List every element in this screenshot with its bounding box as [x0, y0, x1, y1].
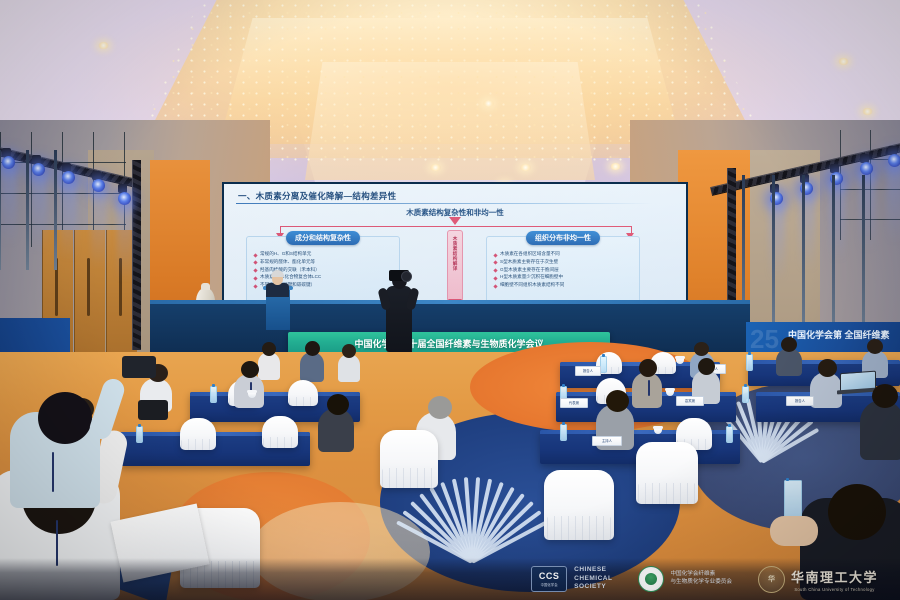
scut-seal-char: 华: [768, 574, 775, 584]
bullet-list-right: 木质素在各组织区域含量不同 S型木质素主要存在于次生壁 G型木质素主要存在于胞间…: [494, 251, 635, 290]
list-item: S型木质素主要存在于次生壁: [494, 259, 635, 265]
attendee-head-m4: [698, 358, 715, 375]
chair-f1: [180, 418, 216, 450]
drape-cable-right-1: [772, 175, 775, 340]
bullet-dot-icon: [493, 284, 497, 288]
attendee-head-m5: [818, 359, 837, 377]
attendee-head-fg3: [828, 484, 886, 540]
attendee-body-s3: [338, 354, 360, 382]
attendee-head-fg2: [38, 392, 92, 444]
ccs-name-text: CHINESE CHEMICAL SOCIETY: [574, 566, 612, 592]
downlight-10: [838, 58, 849, 65]
bullet-text: 木质素-碳水化合物复合体LCC: [260, 274, 321, 280]
attendee-head-b1: [694, 342, 709, 356]
lanyard-fg2: [52, 452, 54, 492]
scut-name-block: 华南理工大学 South China University of Technol…: [791, 567, 878, 592]
drape-cable-right-4: [862, 175, 865, 340]
attendee-head-fg4: [872, 384, 898, 408]
downlight-6: [483, 100, 494, 107]
chair-f2: [262, 416, 298, 448]
water-bottle-f1: [136, 426, 143, 443]
footer-logo-bar: CCS 中国化学会 CHINESE CHEMICAL SOCIETY 中国化学会…: [0, 558, 900, 600]
laptop: [840, 371, 874, 395]
truss-vertical-left: [132, 160, 141, 350]
headline-arrow-icon: [449, 217, 461, 225]
attendee-body-s2: [300, 352, 324, 382]
attendee-head-s1: [262, 342, 276, 356]
ccs-abbr-sub: 中国化学会: [541, 582, 558, 587]
water-bottle-m3: [742, 386, 749, 403]
water-bottle-f3: [726, 426, 733, 443]
chair-fg1: [380, 430, 438, 488]
bullet-text: 常规的H、G和S结构单元: [260, 251, 311, 257]
drape-cable-right-3: [832, 175, 835, 340]
name-card-m3: 报告人: [786, 396, 814, 406]
list-item: 细胞壁不同组织木质素结构不同: [494, 282, 635, 288]
scut-name-en: South China University of Technology: [794, 587, 874, 592]
scut-name-cn: 华南理工大学: [791, 567, 878, 586]
attendee-head-f3: [428, 396, 452, 419]
bullet-dot-icon: [493, 276, 497, 280]
camera-icon: [389, 270, 409, 281]
conference-hall-photo: 一、木质素分离及催化降解—结构差异性 木质素结构复杂性和非均一性 成分和结构复杂…: [0, 0, 900, 600]
bullet-dot-icon: [493, 253, 497, 257]
attendee-head-b2: [781, 337, 797, 352]
light-beam-left-2: [61, 181, 77, 261]
committee-line1: 中国化学会纤维素: [670, 571, 732, 579]
column-heading-right: 组织分布非均一性: [526, 231, 600, 245]
downlight-16: [430, 164, 441, 171]
bullet-text: 羟基肉桂酸的交联（禾本科）: [260, 267, 320, 273]
slide-title: 一、木质素分离及催化降解—结构差异性: [238, 190, 396, 202]
slide-title-underline: [236, 203, 652, 204]
fg-phone-left: [138, 400, 168, 420]
attendee-head-f2: [327, 394, 349, 415]
name-card-m2: 嘉宾席: [676, 396, 704, 406]
bullet-dot-icon: [253, 276, 257, 280]
attendee-head-b3: [867, 339, 883, 354]
chair-m2: [288, 380, 318, 406]
bullet-text: S型木质素主要存在于次生壁: [500, 259, 558, 265]
logo-chinese-chemical-society: CCS 中国化学会 CHINESE CHEMICAL SOCIETY: [531, 566, 612, 592]
downlight-17: [520, 164, 531, 171]
attendee-head-f4: [606, 390, 629, 412]
slide-column-right: 组织分布非均一性 木质素在各组织区域含量不同 S型木质素主要存在于次生壁 G型木…: [486, 236, 640, 310]
bullet-dot-icon: [253, 284, 257, 288]
ccs-line1: CHINESE: [574, 566, 612, 575]
water-bottle-f2: [560, 424, 567, 441]
vertical-center-banner: 木质素结构解译: [447, 230, 463, 302]
committee-name-text: 中国化学会纤维素 与生物质化学专业委员会: [670, 571, 732, 587]
light-beam-left-3: [91, 189, 107, 269]
presenter-body: [266, 283, 289, 297]
ccs-abbr: CCS: [539, 572, 560, 581]
attendee-head-m2: [241, 361, 259, 378]
attendee-body-b2: [776, 348, 802, 376]
bullet-dot-icon: [493, 268, 497, 272]
ccs-line3: SOCIETY: [574, 583, 612, 592]
light-beam-left-4: [117, 202, 133, 282]
list-item: H型木质素量少沉积在细胞壁中: [494, 274, 635, 280]
list-item: G型木质素主要存在于胞间层: [494, 267, 635, 273]
list-item: 常规的H、G和S结构单元: [254, 251, 395, 257]
light-beam-left-1: [31, 173, 47, 253]
water-bottle-b2: [746, 354, 753, 371]
bullet-text: 细胞壁不同组织木质素结构不同: [500, 282, 564, 288]
list-item: 非常规的醛体、酯化单元等: [254, 259, 395, 265]
logo-south-china-university-of-technology: 华 华南理工大学 South China University of Techn…: [758, 566, 878, 593]
chair-fg2: [636, 442, 698, 504]
downlight-11: [862, 108, 873, 115]
light-beam-right-4: [887, 164, 900, 244]
committee-seal-icon: [638, 566, 664, 592]
bullet-dot-icon: [253, 268, 257, 272]
bullet-text: 木质素在各组织区域含量不同: [500, 251, 560, 257]
fg-hand-right: [770, 516, 818, 546]
bullet-text: G型木质素主要存在于胞间层: [500, 267, 559, 273]
ccs-badge-icon: CCS 中国化学会: [531, 566, 567, 592]
ccs-line2: CHEMICAL: [574, 575, 612, 584]
name-card-m1: 代表席: [560, 398, 588, 408]
drape-cable-left-1: [26, 150, 29, 270]
lanyard-m3: [648, 380, 650, 396]
bullet-text: H型木质素量少沉积在细胞壁中: [500, 274, 563, 280]
attendee-head-s2: [305, 341, 320, 356]
column-heading-left: 成分和结构复杂性: [286, 231, 360, 245]
bullet-dot-icon: [493, 261, 497, 265]
vertical-banner-text: 木质素结构解译: [452, 236, 458, 271]
drape-cable-left-2: [54, 150, 57, 270]
stage-edge: [150, 300, 750, 304]
fg-phone-center: [122, 356, 156, 378]
stage-banner-text: 中国化学会第十届全国纤维素与生物质化学会议: [354, 337, 543, 350]
bullet-text: 非常规的醛体、酯化单元等: [260, 259, 315, 265]
downlight-0: [98, 42, 109, 49]
drape-cable-left-0: [0, 150, 1, 270]
attendee-body-m3: [632, 372, 662, 408]
bullet-dot-icon: [253, 253, 257, 257]
committee-line2: 与生物质化学专业委员会: [670, 579, 732, 587]
water-bottle-m1: [210, 386, 217, 403]
attendee-head-s3: [342, 344, 356, 358]
attendee-head-m3: [639, 359, 657, 377]
chair-fg3: [544, 470, 614, 540]
light-beam-left-0: [1, 166, 17, 246]
name-card-b1: 报告人: [575, 366, 601, 376]
presenter-hair: [271, 270, 284, 277]
list-item: 木质素在各组织区域含量不同: [494, 251, 635, 257]
scut-seal-icon: 华: [758, 566, 785, 593]
drape-cable-right-2: [802, 175, 805, 340]
attendee-body-s1: [258, 352, 280, 380]
water-bottle-b1: [600, 356, 607, 373]
bullet-dot-icon: [253, 261, 257, 265]
attendee-body-fg4: [860, 400, 900, 460]
banner-ghost-number: 25: [750, 324, 779, 355]
logo-cellulose-biomass-committee: 中国化学会纤维素 与生物质化学专业委员会: [638, 566, 732, 592]
name-card-f1: 主持人: [592, 436, 622, 446]
